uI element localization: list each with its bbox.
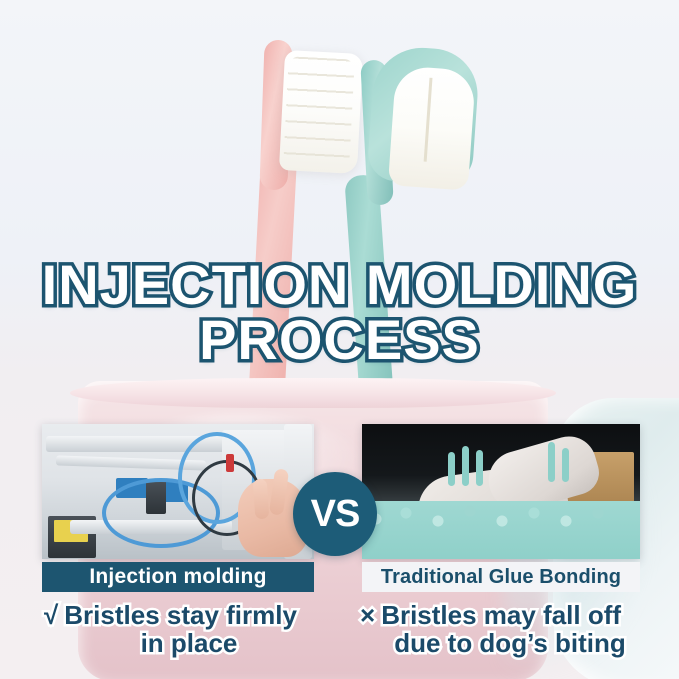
glue-illustration: dV [362, 424, 640, 559]
caption-injection-molding: Injection molding [42, 562, 314, 592]
worker-finger [253, 479, 270, 520]
page-title: INJECTION MOLDING PROCESS [0, 258, 679, 366]
brush-stack-post [448, 452, 455, 486]
drawback-right-line-2: due to dog’s biting [360, 630, 660, 658]
caption-traditional-glue-bonding: Traditional Glue Bonding [362, 562, 640, 592]
toothbrush-teal-bristles [388, 65, 476, 190]
check-icon: √ [44, 602, 58, 630]
brush-stack-post [476, 450, 483, 486]
page-title-line-2: PROCESS [0, 313, 679, 366]
benefit-left-line-2: in place [44, 630, 344, 658]
machine-indicator [226, 454, 234, 472]
drawback-right: ×Bristles may fall off due to dog’s biti… [360, 602, 660, 657]
product-marketing-image: INJECTION MOLDING PROCESS d [0, 0, 679, 679]
pink-holder-rim [70, 378, 556, 408]
cross-icon: × [360, 602, 375, 630]
glue-bonding-photo: dV [362, 424, 640, 559]
benefit-left: √Bristles stay firmly in place [44, 602, 344, 657]
drawback-right-line-1: Bristles may fall off [381, 600, 621, 630]
toothbrush-pink-bristles [279, 50, 363, 174]
injection-molding-photo [42, 424, 314, 559]
machine-illustration [42, 424, 314, 559]
benefit-left-line-1: Bristles stay firmly [64, 600, 297, 630]
brush-stack-post [548, 442, 555, 482]
vs-badge: VS [293, 472, 377, 556]
page-title-line-1: INJECTION MOLDING [0, 258, 679, 311]
teal-brush-head-field [362, 501, 640, 559]
brush-stack-post [462, 446, 469, 486]
brush-stack-post [562, 448, 569, 482]
